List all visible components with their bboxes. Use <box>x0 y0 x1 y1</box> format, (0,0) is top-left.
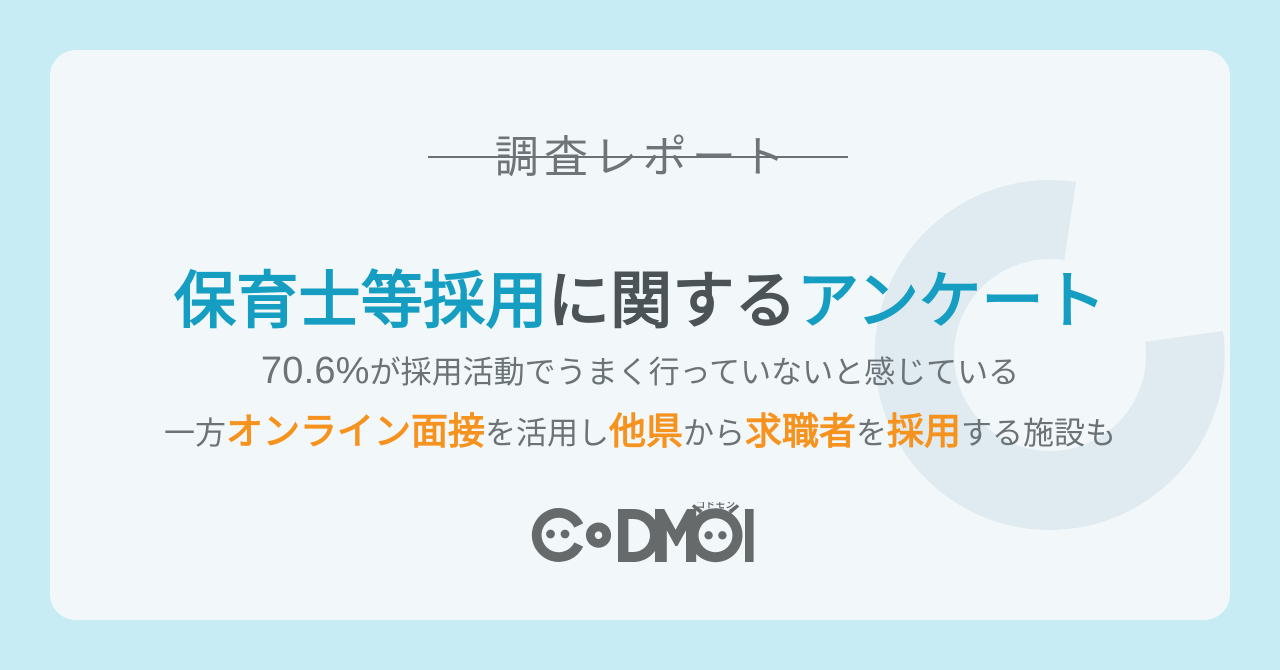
logo-kana-label: コドモン <box>696 502 736 511</box>
logo-c-eye-left <box>546 530 555 539</box>
codmon-wordmark: コドモン <box>524 502 756 572</box>
logo-letter-o-face <box>689 508 743 562</box>
poster-canvas: 調査レポート 保育士等採用に関するアンケート 70.6%が採用活動でうまく行って… <box>0 0 1280 670</box>
logo-o-eye-left <box>704 531 712 539</box>
kicker-divider <box>428 156 848 158</box>
logo-o-eye-right <box>718 531 726 539</box>
headline-part-1: 保育士等採用 <box>174 267 548 336</box>
headline-part-3: アンケート <box>797 267 1106 336</box>
headline-part-2: に関する <box>548 267 797 336</box>
subtitle2-highlight-hire: 採用 <box>887 411 961 452</box>
subtitle-line-1: 70.6%が採用活動でうまく行っていないと感じている <box>50 347 1230 396</box>
logo-letter-d <box>618 509 660 562</box>
report-card: 調査レポート 保育士等採用に関するアンケート 70.6%が採用活動でうまく行って… <box>50 50 1230 620</box>
logo-c-eye-right <box>561 530 570 539</box>
logo-letter-c <box>532 508 583 562</box>
subtitle2-seg-g: を <box>856 416 887 451</box>
subtitle2-seg-e: から <box>683 416 745 451</box>
codmon-logo: コドモン <box>50 502 1230 572</box>
stat-description: が採用活動でうまく行っていないと感じている <box>370 355 1019 390</box>
subtitle2-seg-i: する施設も <box>961 416 1116 451</box>
stat-value: 70.6% <box>261 350 370 392</box>
report-headline: 保育士等採用に関するアンケート <box>50 265 1230 338</box>
subtitle2-highlight-online-interview: オンライン面接 <box>226 411 485 452</box>
logo-letter-n <box>745 509 754 562</box>
subtitle-line-2: 一方オンライン面接を活用し他県から求職者を採用する施設も <box>50 408 1230 456</box>
subtitle2-highlight-jobseekers: 求職者 <box>745 411 856 452</box>
subtitle2-seg-c: を活用し <box>485 416 609 451</box>
subtitle2-seg-a: 一方 <box>164 416 226 451</box>
logo-letter-o-small <box>586 523 611 548</box>
subtitle2-highlight-other-prefecture: 他県 <box>609 411 683 452</box>
